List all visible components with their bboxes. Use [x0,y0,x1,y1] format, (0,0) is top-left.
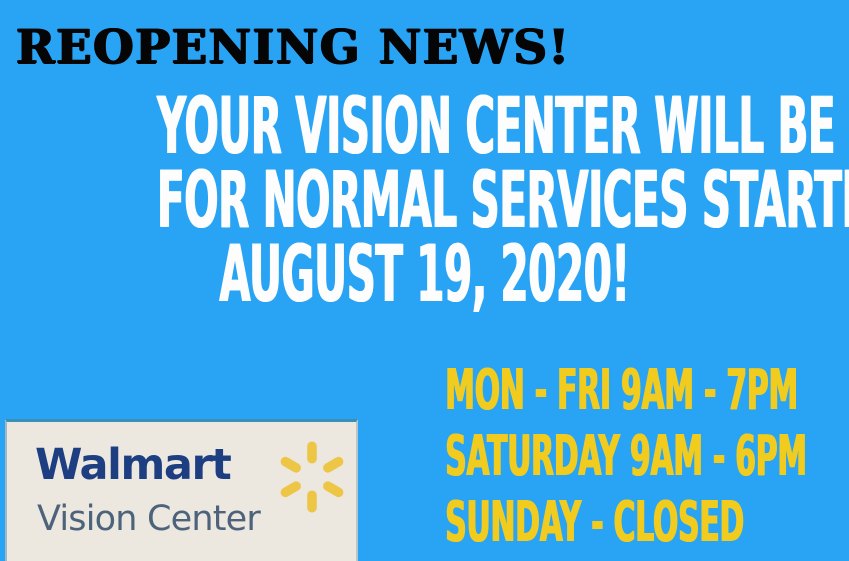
poster-canvas: REOPENING NEWS! YOUR VISION CENTER WILL … [0,0,849,561]
store-hours-block: MON - FRI 9AM - 7PM SATURDAY 9AM - 6PM S… [356,352,826,550]
eyebrow-headline: REOPENING NEWS! [16,22,570,74]
hours-line-sunday: SUNDAY - CLOSED [445,484,736,561]
headline-line-3: AUGUST 19, 2020! [157,230,692,320]
walmart-vision-center-logo: Walmart Vision Center [5,419,358,561]
walmart-spark-icon [275,440,349,514]
walmart-wordmark: Walmart [35,441,230,489]
headline-block: YOUR VISION CENTER WILL BE OPEN FOR NORM… [0,82,849,304]
vision-center-wordmark: Vision Center [37,499,260,539]
